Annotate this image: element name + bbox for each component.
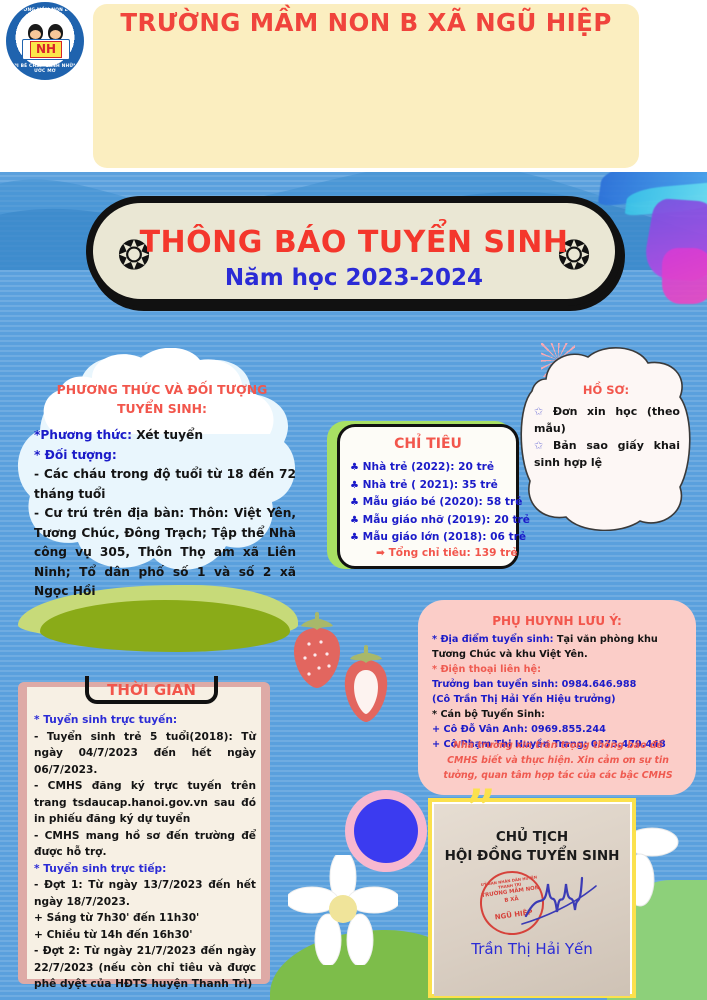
- parents-staff-label: * Cán bộ Tuyển Sinh:: [432, 707, 684, 722]
- quota-panel: CHỈ TIÊU ♣ Nhà trẻ (2022): 20 trẻ ♣ Nhà …: [337, 424, 519, 569]
- poster-root: TRƯỜNG MẦM NON B XÃ NGŨ HIỆP TRƯỜNG MẦM …: [0, 0, 707, 1000]
- club-bullet-icon: ♣: [350, 515, 359, 526]
- strawberry-half-icon: [338, 642, 394, 724]
- quote-mark-icon: ”: [466, 790, 496, 830]
- timeline-body: * Tuyển sinh trực tuyến: - Tuyển sinh tr…: [34, 712, 256, 993]
- method-bullet-age: - Các cháu trong độ tuổi từ 18 đến 72 th…: [34, 465, 296, 504]
- method-cloud-panel: PHƯƠNG THỨC VÀ ĐỐI TƯỢNG TUYỂN SINH: *Ph…: [16, 348, 308, 596]
- method-body: *Phương thức: Xét tuyển * Đối tượng: - C…: [34, 426, 296, 602]
- documents-item: ✩ Đơn xin học (theo mẫu): [534, 403, 680, 437]
- timeline-online-label: * Tuyển sinh trực tuyến:: [34, 712, 256, 729]
- timeline-direct-item: - Đợt 2: Từ ngày 21/7/2023 đến ngày 22/7…: [34, 943, 256, 993]
- club-bullet-icon: ♣: [350, 532, 359, 543]
- announcement-title: THÔNG BÁO TUYỂN SINH: [93, 225, 615, 260]
- quota-total: ➡ Tổng chỉ tiêu: 139 trẻ: [376, 547, 518, 559]
- documents-item: ✩ Bản sao giấy khai sinh hợp lệ: [534, 437, 680, 471]
- parents-head-note: (Cô Trần Thị Hải Yến Hiệu trưởng): [432, 692, 684, 707]
- quota-list: ♣ Nhà trẻ (2022): 20 trẻ ♣ Nhà trẻ ( 202…: [350, 459, 515, 547]
- timeline-online-item: - Tuyển sinh trẻ 5 tuổi(2018): Từ ngày 0…: [34, 729, 256, 779]
- school-name-title: TRƯỜNG MẦM NON B XÃ NGŨ HIỆP: [93, 8, 639, 37]
- timeline-title: THỜI GIAN: [85, 681, 218, 699]
- parents-staff-item: + Cô Đỗ Vân Anh: 0969.855.244: [432, 722, 684, 737]
- white-flower-icon: [288, 855, 398, 965]
- star-bullet-icon: ✩: [534, 405, 543, 418]
- logo-ring-top-text: TRƯỜNG MẦM NON B XÃ NGŨ HIỆP: [7, 8, 83, 18]
- timeline-direct-item: + Chiều từ 14h đến 16h30': [34, 927, 256, 944]
- timeline-direct-label: * Tuyển sinh trực tiếp:: [34, 861, 256, 878]
- quota-item: ♣ Nhà trẻ ( 2021): 35 trẻ: [350, 477, 515, 495]
- club-bullet-icon: ♣: [350, 480, 359, 491]
- parents-phone-label: * Điện thoại liên hệ:: [432, 662, 684, 677]
- signature-role-line-1: CHỦ TỊCH: [434, 828, 630, 847]
- handwritten-signature: [520, 858, 610, 938]
- quota-title: CHỈ TIÊU: [340, 436, 516, 452]
- quota-item: ♣ Mẫu giáo lớn (2018): 06 trẻ: [350, 529, 515, 547]
- documents-title: HỒ SƠ:: [516, 383, 696, 397]
- timeline-online-item: - CMHS đăng ký trực tuyến trên trang tsd…: [34, 778, 256, 828]
- club-bullet-icon: ♣: [350, 497, 359, 508]
- quota-item: ♣ Mẫu giáo bé (2020): 58 trẻ: [350, 494, 515, 512]
- documents-cloud-panel: HỒ SƠ: ✩ Đơn xin học (theo mẫu) ✩ Bản sa…: [516, 345, 696, 531]
- method-bullet-residence: - Cư trú trên địa bàn: Thôn: Việt Yên, T…: [34, 504, 296, 602]
- quota-item: ♣ Mẫu giáo nhỡ (2019): 20 trẻ: [350, 512, 515, 530]
- timeline-direct-item: + Sáng từ 7h30' đến 11h30': [34, 910, 256, 927]
- timeline-direct-item: - Đợt 1: Từ ngày 13/7/2023 đến hết ngày …: [34, 877, 256, 910]
- signatory-name: Trần Thị Hải Yến: [434, 940, 630, 958]
- school-year-subtitle: Năm học 2023-2024: [93, 265, 615, 291]
- method-heading: PHƯƠNG THỨC VÀ ĐỐI TƯỢNG TUYỂN SINH:: [42, 380, 282, 418]
- parents-location-line: * Địa điểm tuyển sinh: Tại văn phòng khu…: [432, 632, 684, 662]
- paint-stroke-magenta: [662, 248, 707, 304]
- school-logo: TRƯỜNG MẦM NON B XÃ NGŨ HIỆP NH NƠI BÉ C…: [6, 2, 84, 80]
- quota-item: ♣ Nhà trẻ (2022): 20 trẻ: [350, 459, 515, 477]
- announcement-title-plaque: ❂ ❂ THÔNG BÁO TUYỂN SINH Năm học 2023-20…: [86, 196, 622, 306]
- parents-note-body: * Địa điểm tuyển sinh: Tại văn phòng khu…: [432, 632, 684, 752]
- parents-closing-note: Nhà trường xin trân trọng thông báo để C…: [438, 738, 678, 783]
- logo-monogram: NH: [30, 41, 62, 58]
- logo-ring-bottom-text: NƠI BÉ CHẮP CÁNH NHỮNG ƯỚC MƠ: [7, 64, 83, 74]
- timeline-online-item: - CMHS mang hồ sơ đến trường để được hỗ …: [34, 828, 256, 861]
- method-line-target: * Đối tượng:: [34, 446, 296, 466]
- parents-head-line: Trưởng ban tuyển sinh: 0984.646.988: [432, 677, 684, 692]
- parents-note-title: PHỤ HUYNH LƯU Ý:: [418, 614, 696, 628]
- documents-body: ✩ Đơn xin học (theo mẫu) ✩ Bản sao giấy …: [534, 403, 680, 471]
- club-bullet-icon: ♣: [350, 462, 359, 473]
- method-line-approach: *Phương thức: Xét tuyển: [34, 426, 296, 446]
- parents-note-panel: PHỤ HUYNH LƯU Ý: * Địa điểm tuyển sinh: …: [418, 600, 696, 795]
- method-approach-value: Xét tuyển: [132, 428, 203, 442]
- star-bullet-icon: ✩: [534, 439, 543, 452]
